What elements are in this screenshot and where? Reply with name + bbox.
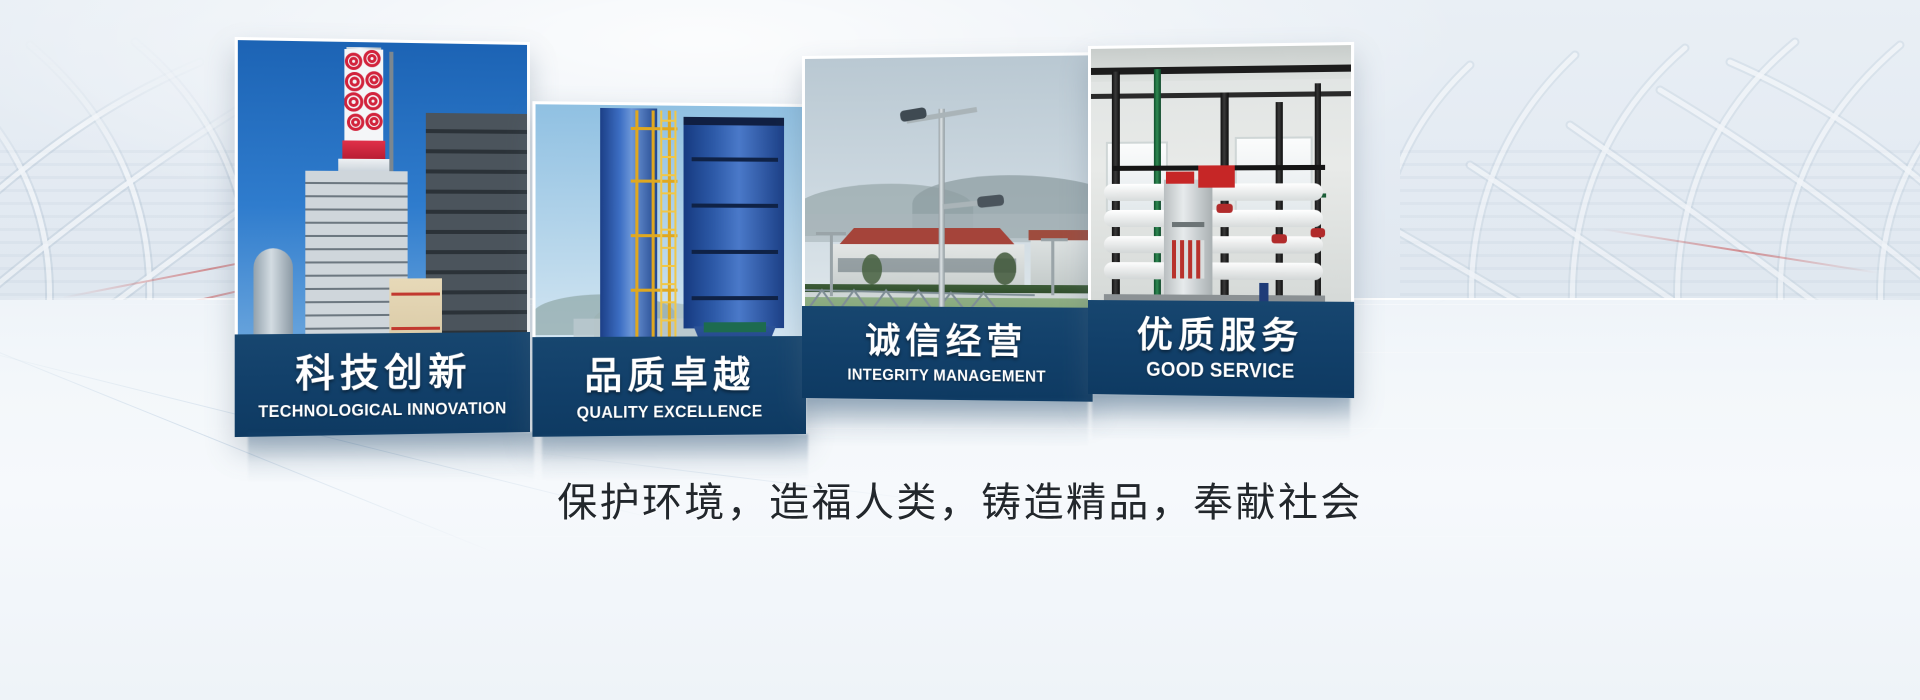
panel-title-en-good-service: GOOD SERVICE bbox=[1146, 360, 1294, 382]
banner-tagline: 保护环境，造福人类，铸造精品，奉献社会 bbox=[0, 470, 1920, 528]
panel-technological-innovation[interactable]: 科技创新 TECHNOLOGICAL INNOVATION bbox=[235, 37, 530, 437]
panel-quality-excellence[interactable]: 品质卓越 QUALITY EXCELLENCE bbox=[532, 101, 806, 437]
panel-caption-quality-excellence: 品质卓越 QUALITY EXCELLENCE bbox=[532, 336, 806, 437]
feature-panel-group: 科技创新 TECHNOLOGICAL INNOVATION bbox=[0, 0, 1920, 700]
panel-title-cn-technological-innovation: 科技创新 bbox=[295, 353, 471, 394]
panel-integrity-management[interactable]: 诚信经营 INTEGRITY MANAGEMENT bbox=[802, 52, 1093, 401]
panel-caption-good-service: 优质服务 GOOD SERVICE bbox=[1088, 300, 1354, 398]
panel-title-en-quality-excellence: QUALITY EXCELLENCE bbox=[577, 402, 763, 421]
panel-good-service[interactable]: 优质服务 GOOD SERVICE bbox=[1088, 42, 1354, 398]
panel-title-cn-integrity-management: 诚信经营 bbox=[865, 324, 1027, 361]
panel-title-cn-good-service: 优质服务 bbox=[1137, 317, 1304, 355]
panel-title-en-technological-innovation: TECHNOLOGICAL INNOVATION bbox=[259, 399, 507, 420]
panel-caption-technological-innovation: 科技创新 TECHNOLOGICAL INNOVATION bbox=[235, 332, 530, 437]
panel-caption-integrity-management: 诚信经营 INTEGRITY MANAGEMENT bbox=[802, 306, 1093, 402]
panel-title-en-integrity-management: INTEGRITY MANAGEMENT bbox=[847, 367, 1046, 385]
panel-reflection-4 bbox=[1092, 394, 1350, 446]
banner-stage: 科技创新 TECHNOLOGICAL INNOVATION bbox=[0, 0, 1920, 700]
panel-title-cn-quality-excellence: 品质卓越 bbox=[584, 356, 755, 394]
panel-reflection-3 bbox=[806, 398, 1088, 452]
